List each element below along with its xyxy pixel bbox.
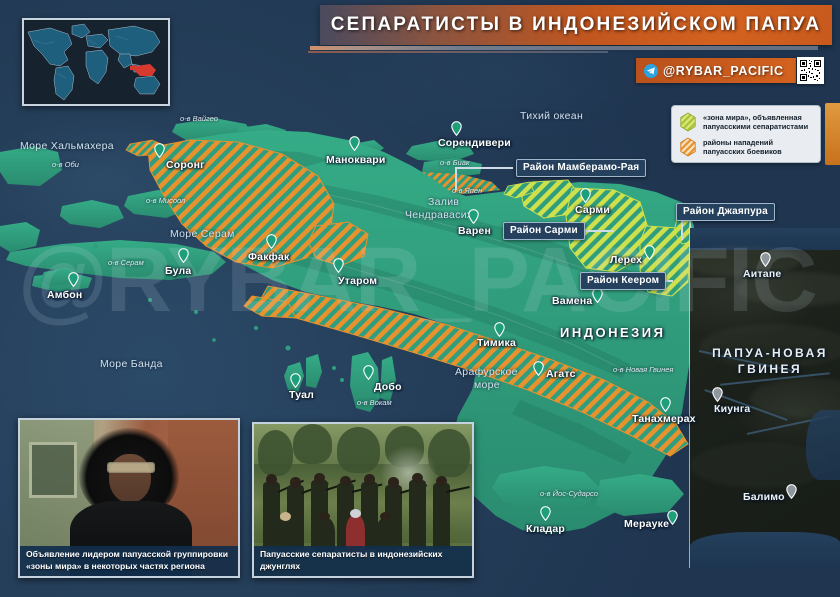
map-pin-тимика[interactable] <box>494 322 505 337</box>
title-underline-secondary <box>308 51 608 53</box>
title-bar-wrap: СЕПАРАТИСТЫ В ИНДОНЕЗИЙСКОМ ПАПУА <box>320 5 832 45</box>
callout-sarmi[interactable]: Район Сарми <box>503 222 585 240</box>
island-label-1: о-в Оби <box>52 160 79 169</box>
infographic-root: @RYBAR_PACIFIC Тихий океанМоре Хальмахер… <box>0 0 840 597</box>
city-label-соронг: Соронг <box>166 159 205 171</box>
legend-item-attack-zone: районы нападений папуасских боевиков <box>679 137 813 157</box>
callout-mamberamo-raya[interactable]: Район Мамберамо-Рая <box>516 159 646 177</box>
island-label-5: о-в Япен <box>452 186 482 195</box>
map-pin-варен[interactable] <box>468 209 479 224</box>
legend: «зона мира», объявленная папуасскими сеп… <box>671 105 821 163</box>
leader-line-mamberamo <box>455 168 457 190</box>
world-locator-map <box>22 18 170 106</box>
city-label-була: Була <box>165 265 191 277</box>
sea-label-6: Арафурское <box>455 366 518 378</box>
city-label-тимика: Тимика <box>477 337 516 349</box>
title-bar: СЕПАРАТИСТЫ В ИНДОНЕЗИЙСКОМ ПАПУА <box>320 5 832 45</box>
city-label-аитапе: Аитапе <box>743 268 781 280</box>
callout-keerom[interactable]: Район Кеером <box>580 272 666 290</box>
hex-swatch-orange-hatch <box>679 137 697 157</box>
hex-swatch-green-hatch <box>679 112 697 132</box>
city-label-кладар: Кладар <box>526 523 565 535</box>
sea-label-1: Море Хальмахера <box>20 140 114 152</box>
map-pin-добо[interactable] <box>363 365 374 380</box>
city-label-сарми: Сарми <box>575 204 610 216</box>
telegram-icon <box>644 64 658 78</box>
map-pin-утаром[interactable] <box>333 258 344 273</box>
island-label-7: о-в Новая Гвинея <box>613 365 673 374</box>
map-pin-туал[interactable] <box>290 373 301 388</box>
telegram-badge[interactable]: @RYBAR_PACIFIC <box>636 58 796 83</box>
channel-handle: @RYBAR_PACIFIC <box>663 64 784 78</box>
map-pin-амбон[interactable] <box>68 272 79 287</box>
map-pin-балимо[interactable] <box>786 484 797 499</box>
island-label-6: о-в Вокам <box>357 398 392 407</box>
photo-1-caption: Объявление лидером папуасской группировк… <box>20 546 238 576</box>
sea-label-0: Тихий океан <box>520 110 583 122</box>
island-label-4: о-в Биак <box>440 158 469 167</box>
page-title: СЕПАРАТИСТЫ В ИНДОНЕЗИЙСКОМ ПАПУА <box>331 14 822 36</box>
map-pin-маноквари[interactable] <box>349 136 360 151</box>
legend-label-attack-zone: районы нападений папуасских боевиков <box>703 138 813 156</box>
city-label-вамена: Вамена <box>552 295 592 307</box>
country-label-png: ПАПУА-НОВАЯ ГВИНЕЯ <box>706 345 834 377</box>
island-label-8: о-в Йос-Сударсо <box>540 489 598 498</box>
photo-separatist-fighters[interactable]: Папуасские сепаратисты в индонезийских д… <box>252 422 474 578</box>
photo-2-caption: Папуасские сепаратисты в индонезийских д… <box>254 546 472 576</box>
map-pin-кладар[interactable] <box>540 506 551 521</box>
map-pin-киунга[interactable] <box>712 387 723 402</box>
city-label-киунга: Киунга <box>714 403 750 415</box>
city-label-лерех: Лерех <box>610 254 642 266</box>
map-pin-сарми[interactable] <box>580 188 591 203</box>
title-underline <box>310 46 818 50</box>
city-label-сорендивери: Сорендивери <box>438 137 511 149</box>
legend-item-peace-zone: «зона мира», объявленная папуасскими сеп… <box>679 112 813 132</box>
sea-label-7: море <box>474 379 500 391</box>
island-label-0: о-в Вайгео <box>180 114 218 123</box>
map-pin-лерех[interactable] <box>644 245 655 260</box>
map-pin-вамена[interactable] <box>592 288 603 303</box>
city-label-утаром: Утаром <box>338 275 377 287</box>
country-label-indonesia: ИНДОНЕЗИЯ <box>560 325 666 340</box>
sea-label-2: Море Серам <box>170 228 235 240</box>
city-label-танахмерах: Танахмерах <box>632 413 696 425</box>
city-label-туал: Туал <box>289 389 314 401</box>
island-label-2: о-в Мисоол <box>146 196 185 205</box>
map-pin-аитапе[interactable] <box>760 252 771 267</box>
island-label-3: о-в Серам <box>108 258 144 267</box>
map-pin-танахмерах[interactable] <box>660 397 671 412</box>
city-label-факфак: Факфак <box>248 251 289 263</box>
city-label-варен: Варен <box>458 225 491 237</box>
png-line1: ПАПУА-НОВАЯ <box>712 346 828 360</box>
callout-jayapura[interactable]: Район Джаяпура <box>676 203 775 221</box>
city-label-амбон: Амбон <box>47 289 82 301</box>
legend-side-tab <box>825 103 840 165</box>
sea-label-4: Залив <box>428 196 459 208</box>
leader-line-mamberamo-h <box>455 167 513 169</box>
sea-label-3: Море Банда <box>100 358 163 370</box>
map-pin-була[interactable] <box>178 248 189 263</box>
city-label-добо: Добо <box>374 381 402 393</box>
map-pin-соронг[interactable] <box>154 143 165 158</box>
sea-label-5: Чендравасих <box>405 209 472 221</box>
city-label-агатс: Агатс <box>546 368 576 380</box>
city-label-маноквари: Маноквари <box>326 154 386 166</box>
qr-code[interactable] <box>797 57 824 84</box>
city-label-балимо: Балимо <box>743 491 785 503</box>
legend-label-peace-zone: «зона мира», объявленная папуасскими сеп… <box>703 113 813 131</box>
photo-papuan-leader[interactable]: Объявление лидером папуасской группировк… <box>18 418 240 578</box>
map-pin-сорендивери[interactable] <box>451 121 462 136</box>
png-line2: ГВИНЕЯ <box>738 362 802 376</box>
map-pin-агатс[interactable] <box>533 361 544 376</box>
city-label-мерауке: Мерауке <box>624 518 669 530</box>
map-pin-факфак[interactable] <box>266 234 277 249</box>
